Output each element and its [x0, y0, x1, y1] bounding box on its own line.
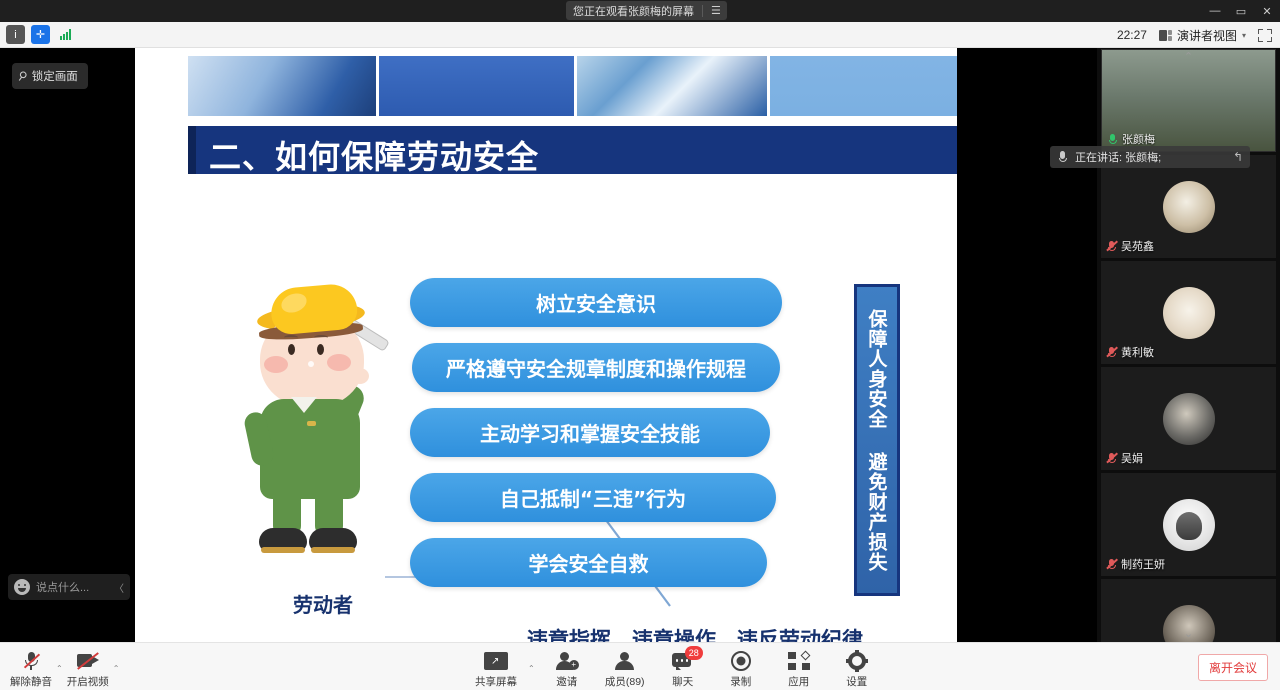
shared-screen-stage: ⚲ 锁定画面 说点什么... 〈 二、如何保障劳动安全 — [0, 48, 1097, 642]
toolbar-left-group: 解除静音 ⌃ 开启视频 ⌃ — [8, 645, 119, 689]
measure-item-3[interactable]: 主动学习和掌握安全技能 — [410, 408, 770, 457]
window-titlebar: 您正在观看张颜梅的屏幕 ☰ — ▭ ✕ — [0, 0, 1280, 22]
measures-list: 树立安全意识 严格遵守安全规章制度和操作规程 主动学习和掌握安全技能 自己抵制“… — [410, 278, 782, 603]
sidebar-scroll-down-button[interactable]: ⌄ — [1184, 627, 1193, 640]
participant-sidebar: › ⌃ 张颜梅 吴苑鑫 黄利敏 — [1097, 48, 1280, 642]
avatar — [1163, 181, 1215, 233]
topbar-right-controls: 22:27 演讲者视图 ▾ — [1117, 22, 1272, 48]
share-screen-button[interactable]: ↗ 共享屏幕 — [470, 645, 522, 689]
apps-grid-icon — [788, 650, 810, 672]
unmute-label: 解除静音 — [10, 674, 52, 689]
video-options-chevron-icon[interactable]: ⌃ — [113, 664, 120, 689]
invite-user-icon: + — [556, 650, 578, 672]
toolbar-center-group: ↗ 共享屏幕 ⌃ + 邀请 成员(89) — [470, 645, 883, 689]
speaking-toast-label: 正在讲话: 张颜梅; — [1075, 149, 1161, 165]
invite-label: 邀请 — [556, 674, 577, 689]
banner-menu-icon[interactable]: ☰ — [711, 4, 720, 17]
view-mode-selector[interactable]: 演讲者视图 ▾ — [1159, 27, 1246, 44]
worker-eye-right — [317, 344, 324, 355]
settings-button[interactable]: 设置 — [831, 645, 883, 689]
invite-button[interactable]: + 邀请 — [541, 645, 593, 689]
view-mode-label: 演讲者视图 — [1177, 27, 1237, 44]
header-image-light-blue — [770, 56, 957, 116]
worker-nose — [308, 361, 314, 367]
participant-tile[interactable]: 吴苑鑫 — [1101, 155, 1276, 258]
fullscreen-icon[interactable] — [1258, 29, 1272, 42]
chat-icon: 28 — [672, 650, 694, 672]
slide-body: 劳动者 树立安全意识 严格遵守安全规章制度和操作规程 主动学习和掌握安全技能 自… — [135, 174, 957, 642]
participant-tile[interactable]: 黄利敏 — [1101, 261, 1276, 364]
microphone-muted-icon — [1106, 558, 1117, 570]
shared-slide: 二、如何保障劳动安全 — [135, 48, 957, 642]
worker-illustration — [235, 284, 410, 564]
participant-name: 吴娟 — [1121, 450, 1143, 466]
unmute-button[interactable]: 解除静音 — [8, 645, 54, 689]
worker-sole-right — [311, 547, 355, 553]
screen-share-banner[interactable]: 您正在观看张颜梅的屏幕 ☰ — [566, 1, 727, 20]
divider — [702, 5, 703, 17]
signal-bars-icon[interactable] — [56, 25, 75, 44]
chat-input-placeholder: 说点什么... — [36, 579, 108, 595]
participant-name: 黄利敏 — [1121, 344, 1154, 360]
participant-name: 吴苑鑫 — [1121, 238, 1154, 254]
topbar-left-icons: i ✛ — [6, 25, 75, 44]
chat-expand-icon[interactable]: 〈 — [114, 580, 124, 595]
leave-meeting-button[interactable]: 离开会议 — [1198, 654, 1268, 681]
meeting-window: 您正在观看张颜梅的屏幕 ☰ — ▭ ✕ i ✛ 22:27 演讲者视图 ▾ — [0, 0, 1280, 690]
record-icon — [731, 650, 751, 672]
participant-name-row: 制药王妍 — [1106, 556, 1165, 572]
participant-name: 张颜梅 — [1122, 131, 1155, 147]
avatar — [1163, 499, 1215, 551]
maximize-button[interactable]: ▭ — [1228, 0, 1254, 22]
microphone-on-icon — [1107, 133, 1118, 145]
worker-body — [260, 399, 360, 499]
meeting-topbar: i ✛ 22:27 演讲者视图 ▾ — [0, 22, 1280, 48]
layout-icon — [1159, 30, 1172, 41]
chat-button[interactable]: 28 聊天 — [657, 645, 709, 689]
measure-item-2[interactable]: 严格遵守安全规章制度和操作规程 — [412, 343, 780, 392]
apps-button[interactable]: 应用 — [773, 645, 825, 689]
close-button[interactable]: ✕ — [1254, 0, 1280, 22]
microphone-muted-icon — [1106, 240, 1117, 252]
apps-label: 应用 — [788, 674, 809, 689]
measure-item-5[interactable]: 学会安全自救 — [410, 538, 767, 587]
info-icon[interactable]: i — [6, 25, 25, 44]
participant-name-row: 黄利敏 — [1106, 344, 1154, 360]
microphone-muted-icon — [24, 650, 39, 672]
chat-label: 聊天 — [672, 674, 693, 689]
share-screen-label: 共享屏幕 — [475, 674, 517, 689]
slide-header-images — [135, 48, 957, 126]
slide-footnote: 违章指挥、违章操作、违反劳动纪律 — [475, 624, 915, 642]
members-button[interactable]: 成员(89) — [599, 645, 651, 689]
start-video-button[interactable]: 开启视频 — [65, 645, 111, 689]
microphone-icon — [1057, 151, 1068, 164]
worker-label: 劳动者 — [263, 589, 383, 618]
speaking-toast[interactable]: 正在讲话: 张颜梅; ↰ — [1050, 146, 1250, 168]
share-options-chevron-icon[interactable]: ⌃ — [528, 664, 535, 689]
emoji-icon[interactable] — [14, 579, 30, 595]
lock-screen-label: 锁定画面 — [32, 68, 78, 84]
participant-name-row: 吴娟 — [1106, 450, 1143, 466]
worker-brow-left — [284, 335, 298, 340]
measure-item-4[interactable]: 自己抵制“三违”行为 — [410, 473, 776, 522]
outcome-text: 保障人身安全 避免财产损失 — [864, 309, 891, 572]
minimize-button[interactable]: — — [1202, 0, 1228, 22]
reply-icon[interactable]: ↰ — [1233, 150, 1243, 164]
gear-icon — [847, 650, 867, 672]
lock-screen-button[interactable]: ⚲ 锁定画面 — [12, 63, 88, 89]
settings-label: 设置 — [846, 674, 867, 689]
worker-eye-left — [288, 344, 295, 355]
meeting-toolbar: 解除静音 ⌃ 开启视频 ⌃ ↗ 共享屏幕 ⌃ + — [0, 642, 1280, 690]
stage-chat-input[interactable]: 说点什么... 〈 — [8, 574, 130, 600]
header-image-road-sun — [577, 56, 766, 116]
worker-cheek-right — [327, 354, 351, 371]
participant-name-row: 张颜梅 — [1107, 131, 1155, 147]
participant-tile[interactable]: 张颜梅 — [1101, 49, 1276, 152]
slide-title: 二、如何保障劳动安全 — [209, 132, 539, 178]
audio-options-chevron-icon[interactable]: ⌃ — [56, 664, 63, 689]
record-button[interactable]: 录制 — [715, 645, 767, 689]
camera-off-icon — [77, 650, 99, 672]
clock: 22:27 — [1117, 28, 1147, 42]
start-video-label: 开启视频 — [67, 674, 109, 689]
microphone-muted-icon — [1106, 452, 1117, 464]
outcome-box: 保障人身安全 避免财产损失 — [854, 284, 900, 596]
microphone-muted-icon — [1106, 346, 1117, 358]
screen-share-banner-label: 您正在观看张颜梅的屏幕 — [573, 3, 694, 19]
header-image-hands-keyboard — [188, 56, 376, 116]
worker-button — [307, 421, 316, 426]
chat-unread-badge: 28 — [685, 646, 703, 660]
worker-cheek-left — [264, 356, 288, 373]
shield-icon[interactable]: ✛ — [31, 25, 50, 44]
measure-item-1[interactable]: 树立安全意识 — [410, 278, 782, 327]
share-screen-icon: ↗ — [484, 650, 508, 672]
participants-icon — [614, 650, 636, 672]
sidebar-scroll-up-button[interactable]: ⌃ — [1184, 50, 1193, 63]
record-label: 录制 — [730, 674, 751, 689]
members-label: 成员(89) — [605, 674, 645, 689]
chevron-down-icon[interactable]: ▾ — [1242, 31, 1246, 40]
avatar — [1163, 287, 1215, 339]
avatar — [1163, 393, 1215, 445]
participant-tile[interactable]: 吴娟 — [1101, 367, 1276, 470]
worker-brow-right — [314, 335, 328, 340]
pin-icon: ⚲ — [15, 68, 30, 85]
worker-sole-left — [261, 547, 305, 553]
header-image-blue-block — [379, 56, 574, 116]
participant-name-row: 吴苑鑫 — [1106, 238, 1154, 254]
window-controls: — ▭ ✕ — [1202, 0, 1280, 22]
participant-tile[interactable]: 制药王妍 — [1101, 473, 1276, 576]
participant-name: 制药王妍 — [1121, 556, 1165, 572]
